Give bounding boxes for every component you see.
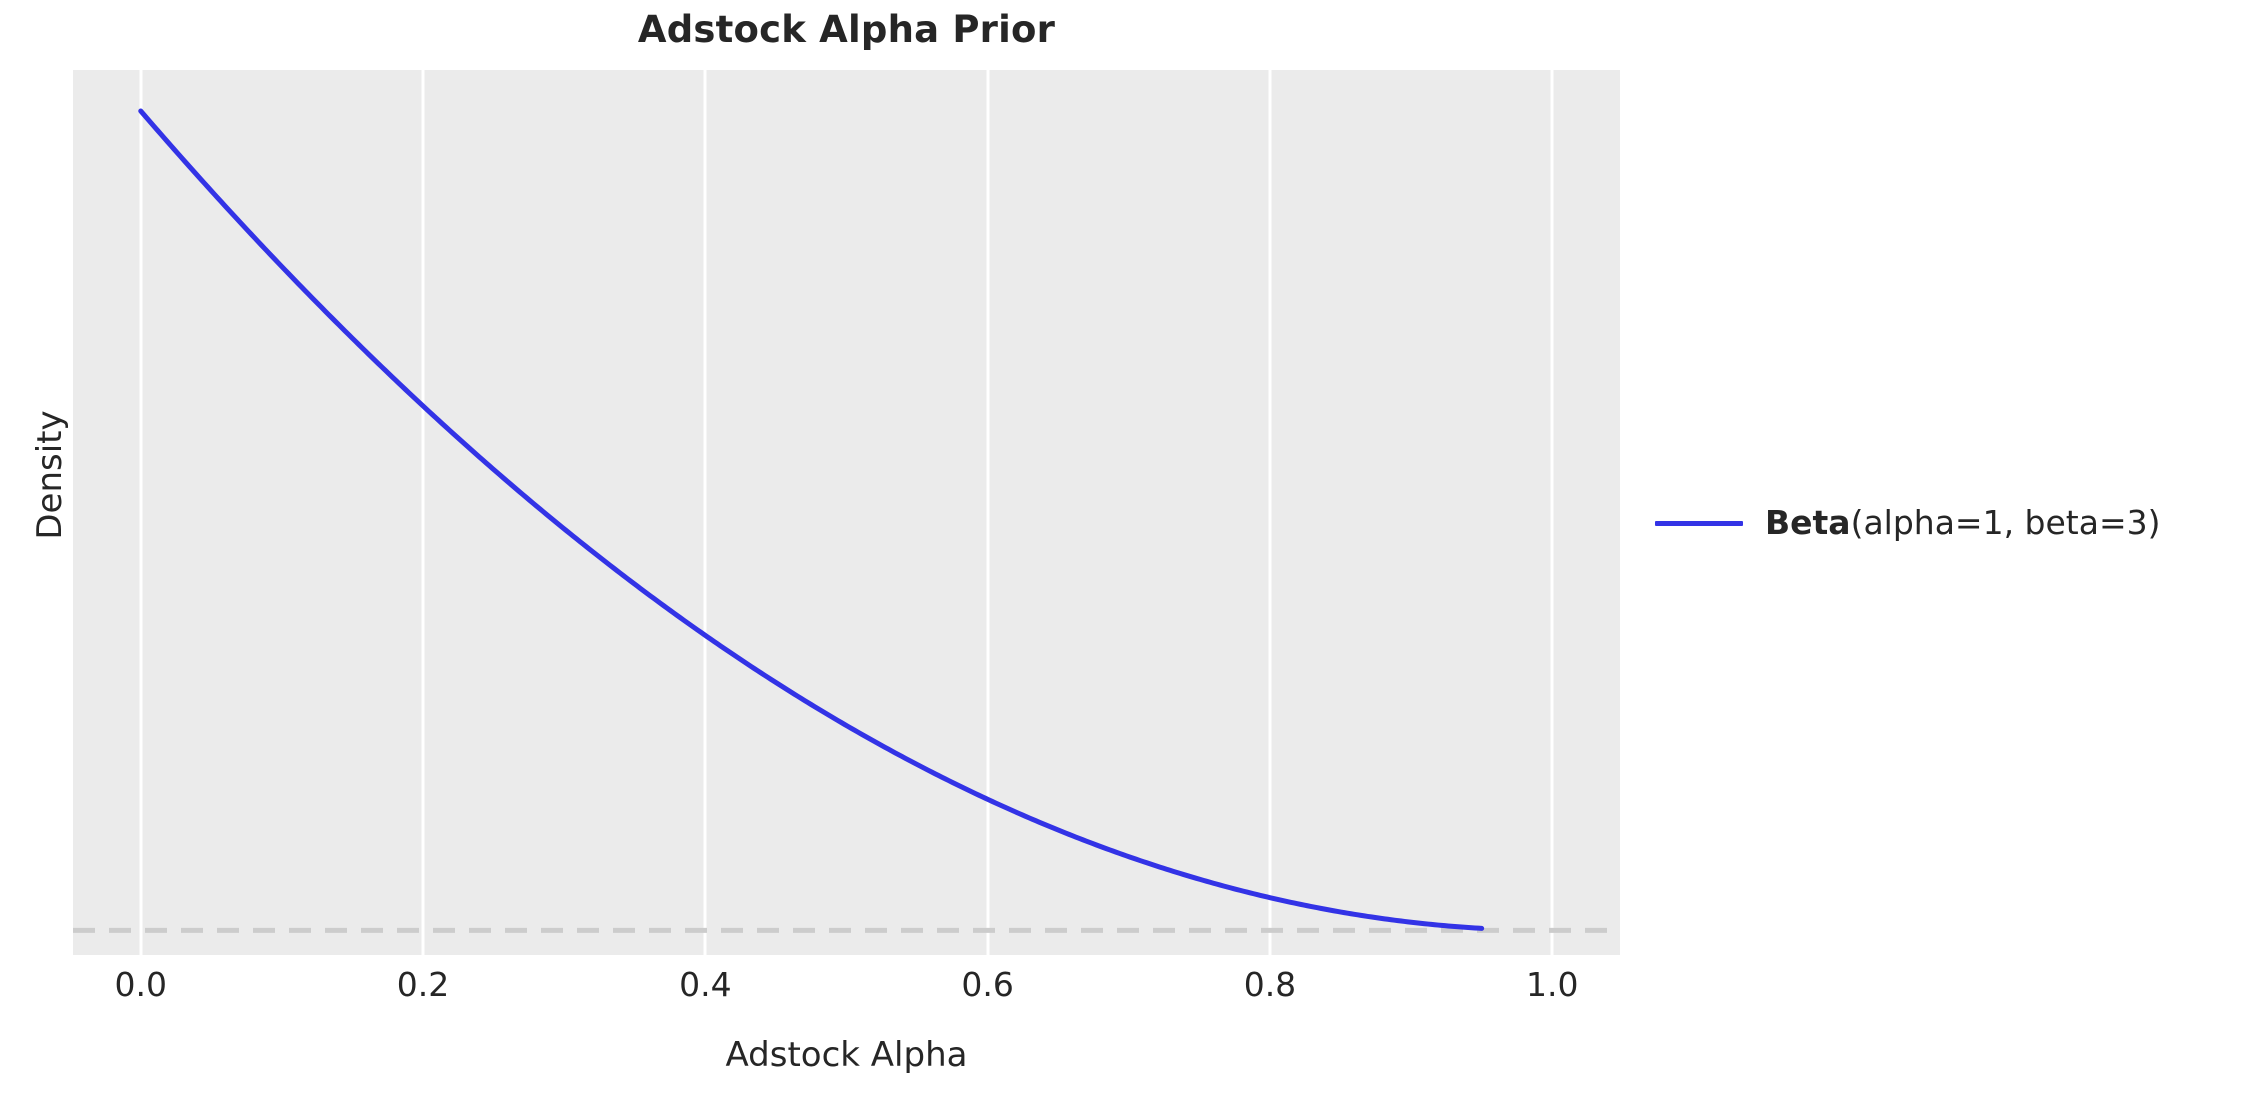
x-tick-label-0.0: 0.0 xyxy=(115,965,167,1004)
x-tick-label-0.8: 0.8 xyxy=(1244,965,1296,1004)
legend-line-sample-icon xyxy=(1655,521,1743,526)
density-curve-beta xyxy=(141,111,1482,928)
x-tick-label-0.2: 0.2 xyxy=(397,965,449,1004)
chart-figure: Adstock Alpha Prior 0.00.20.40.60.81.0 A… xyxy=(0,0,2267,1115)
chart-title: Adstock Alpha Prior xyxy=(73,8,1620,51)
legend: Beta(alpha=1, beta=3) xyxy=(1655,505,2161,541)
legend-entry-label: Beta(alpha=1, beta=3) xyxy=(1765,505,2161,541)
x-tick-label-0.6: 0.6 xyxy=(961,965,1013,1004)
x-axis-label: Adstock Alpha xyxy=(73,1035,1620,1075)
plot-area xyxy=(73,70,1620,955)
plot-canvas xyxy=(73,70,1620,955)
legend-distribution-name: Beta xyxy=(1765,503,1851,542)
legend-distribution-params: (alpha=1, beta=3) xyxy=(1851,503,2161,542)
x-tick-label-0.4: 0.4 xyxy=(679,965,731,1004)
x-tick-label-1.0: 1.0 xyxy=(1526,965,1578,1004)
y-axis-label: Density xyxy=(30,365,70,585)
